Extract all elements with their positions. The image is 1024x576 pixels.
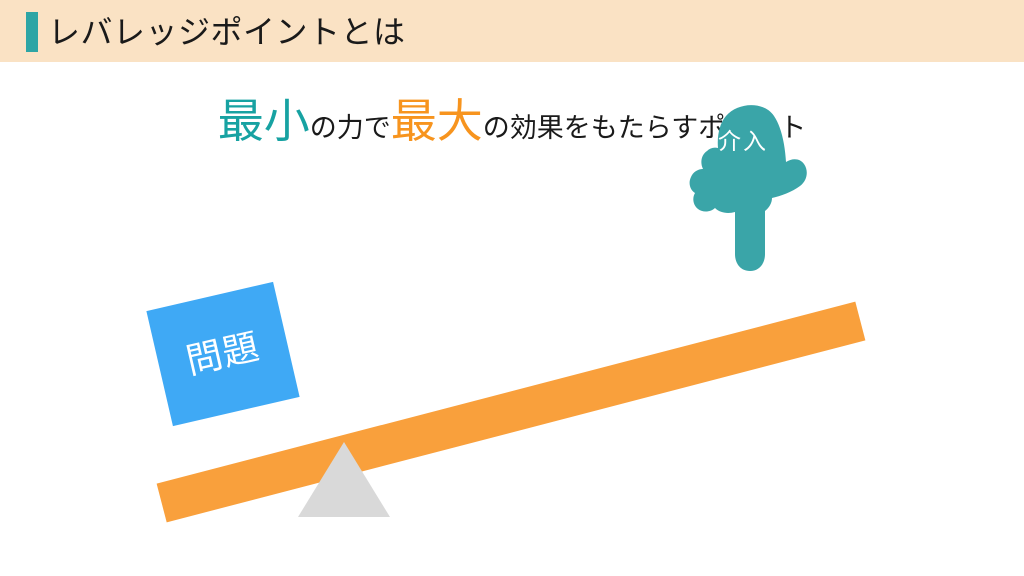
fulcrum-triangle: [298, 442, 390, 517]
slide-canvas: レバレッジポイントとは 最小の力で最大の効果をもたらすポイント 問題 介入: [0, 0, 1024, 576]
intervention-hand: 介入: [686, 104, 810, 292]
problem-block-label: 問題: [183, 328, 263, 380]
header-accent-bar: [26, 12, 38, 52]
page-title: レバレッジポイントとは: [48, 7, 406, 57]
problem-block: 問題: [146, 282, 299, 426]
header-band: レバレッジポイントとは: [0, 0, 1024, 62]
lever-diagram: 問題: [0, 62, 1024, 576]
pointing-down-hand-icon: [686, 104, 810, 292]
